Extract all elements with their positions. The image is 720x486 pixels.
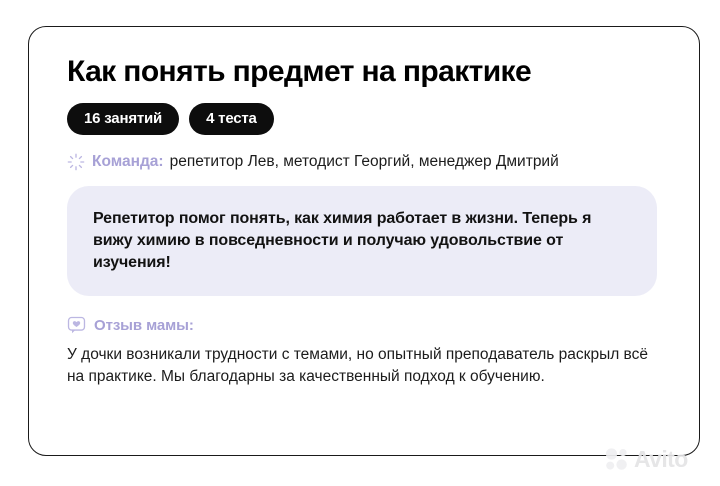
student-quote-block: Репетитор помог понять, как химия работа… [67,186,657,296]
screenshot-canvas: Как понять предмет на практике 16 заняти… [0,0,720,486]
badge-tests: 4 теста [189,103,274,135]
team-label: Команда: [92,152,164,172]
student-quote-text: Репетитор помог понять, как химия работа… [93,208,631,274]
team-row: Команда: репетитор Лев, методист Георгий… [67,152,669,172]
heart-bubble-icon [67,316,86,335]
offer-card: Как понять предмет на практике 16 заняти… [28,26,700,456]
page-title: Как понять предмет на практике [67,55,669,89]
badge-lessons: 16 занятий [67,103,179,135]
card-content: Как понять предмет на практике 16 заняти… [67,55,669,388]
review-text: У дочки возникали трудности с темами, но… [67,344,657,388]
team-value: репетитор Лев, методист Георгий, менедже… [170,152,559,172]
review-label: Отзыв мамы: [94,317,194,334]
sparkle-icon [67,153,85,171]
review-label-row: Отзыв мамы: [67,316,669,335]
badge-group: 16 занятий 4 теста [67,103,669,135]
